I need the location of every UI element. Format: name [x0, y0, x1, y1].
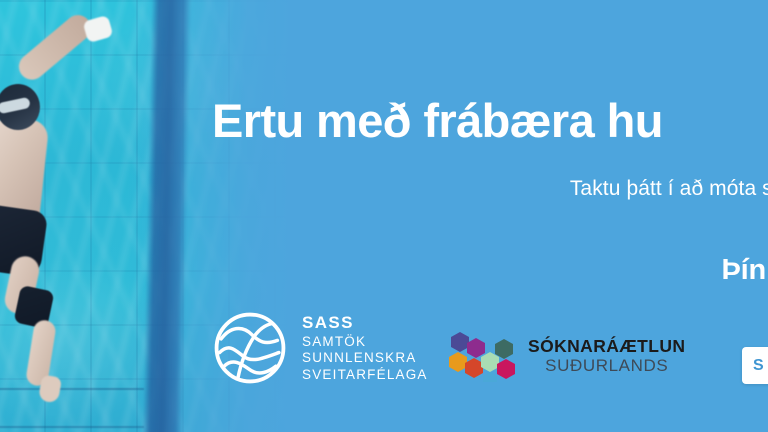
- sass-line-2: SUNNLENSKRA: [302, 350, 428, 366]
- banner-subheading: Taktu þátt í að móta stefnu upp: [120, 174, 768, 234]
- sass-circular-wave-icon: [212, 310, 288, 386]
- banner-headline: Ertu með frábæra hu: [212, 96, 768, 145]
- banner-content: Ertu með frábæra hu Taktu þátt í að móta…: [0, 0, 768, 432]
- soknaraaetlun-subtitle: SUÐURLANDS: [528, 356, 685, 376]
- banner-tagline: Þín röd: [120, 254, 768, 287]
- sass-title: SASS: [302, 313, 428, 334]
- cta-button-label: S: [753, 357, 764, 375]
- soknaraaetlun-logo[interactable]: SÓKNARÁÆTLUN SUÐURLANDS: [449, 330, 685, 382]
- subheading-line-2: upp: [120, 204, 768, 234]
- promo-banner: Ertu með frábæra hu Taktu þátt í að móta…: [0, 0, 768, 432]
- sass-line-3: SVEITARFÉLAGA: [302, 367, 428, 383]
- soknaraaetlun-logo-text: SÓKNARÁÆTLUN SUÐURLANDS: [528, 336, 685, 376]
- sass-logo[interactable]: SASS SAMTÖK SUNNLENSKRA SVEITARFÉLAGA: [212, 310, 428, 386]
- hexagon-cluster-icon: [449, 330, 515, 382]
- cta-button[interactable]: S: [742, 347, 768, 384]
- sass-line-1: SAMTÖK: [302, 334, 428, 350]
- subheading-line-1: Taktu þátt í að móta stefnu: [120, 174, 768, 204]
- sass-logo-text: SASS SAMTÖK SUNNLENSKRA SVEITARFÉLAGA: [302, 313, 428, 383]
- soknaraaetlun-title: SÓKNARÁÆTLUN: [528, 336, 685, 356]
